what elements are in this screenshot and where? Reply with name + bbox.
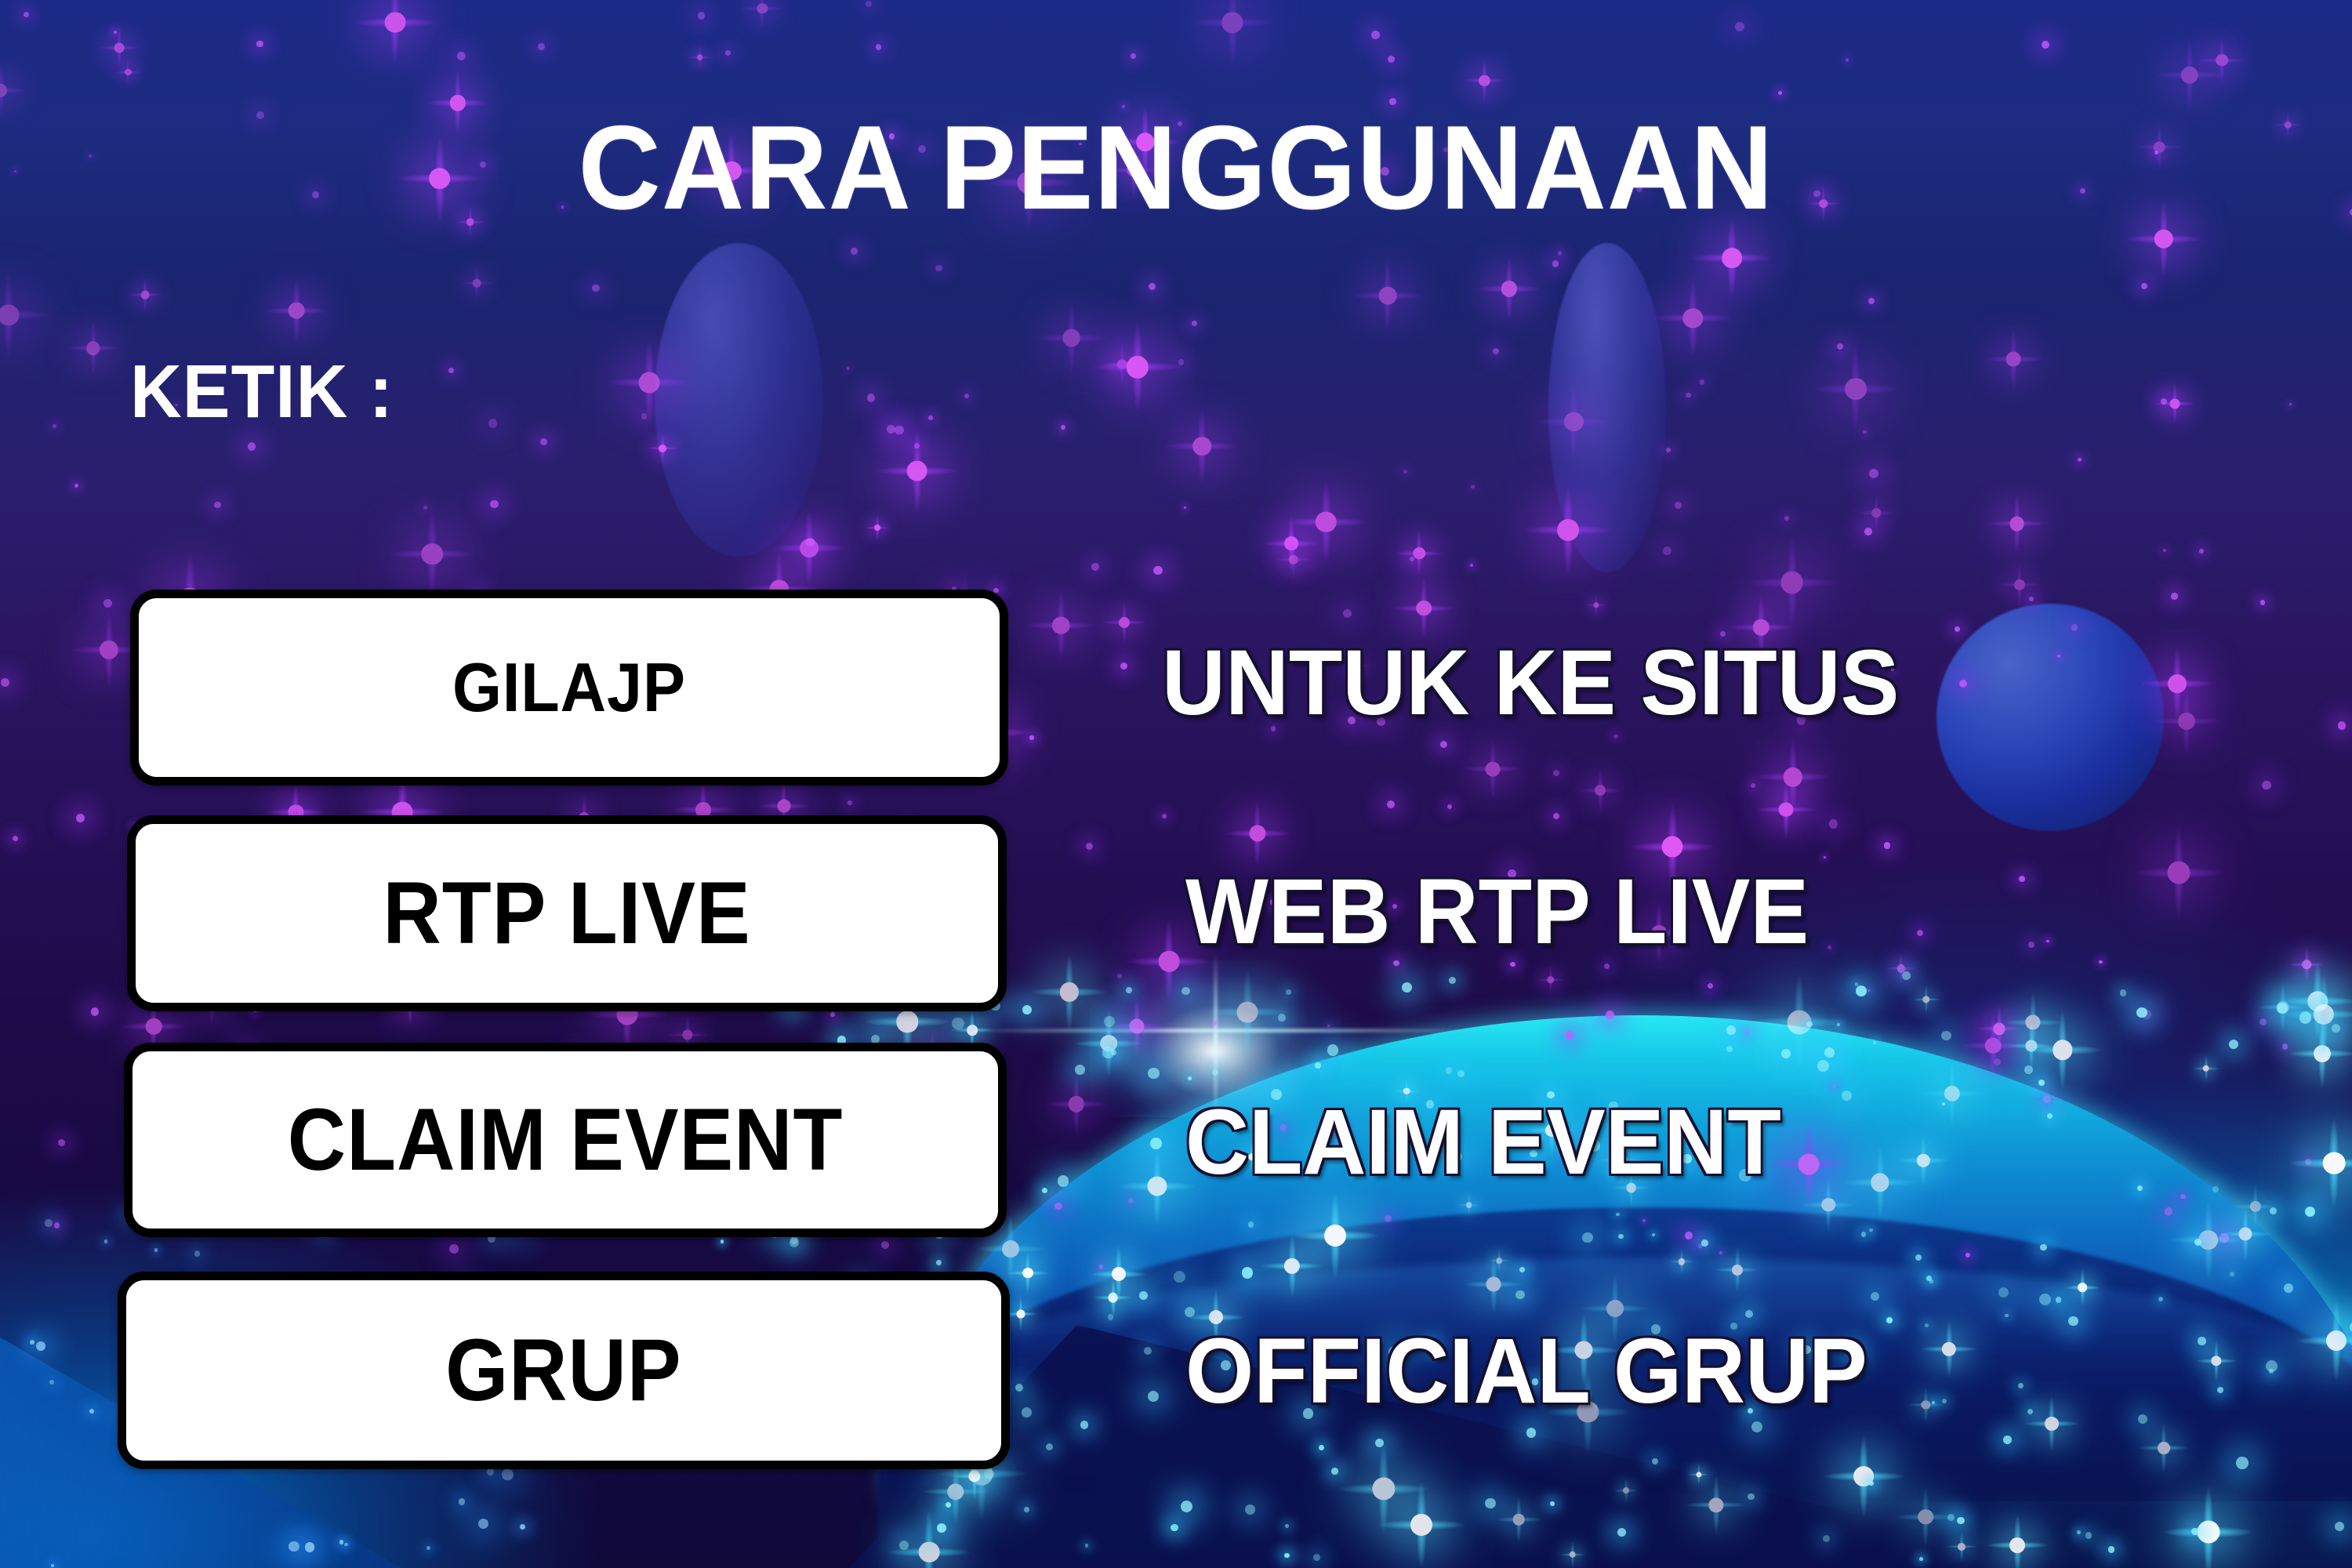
- command-button-gilajp[interactable]: GILAJP: [130, 590, 1008, 786]
- promo-banner: CARA PENGGUNAAN KETIK : GILAJP UNTUK KE …: [0, 0, 2352, 1568]
- command-button-label: CLAIM EVENT: [288, 1096, 844, 1184]
- command-button-label: RTP LIVE: [383, 869, 750, 957]
- command-button-label: GILAJP: [452, 653, 686, 722]
- command-description-rtp-live: WEB RTP LIVE: [1185, 866, 1809, 958]
- command-description-claim-event: CLAIM EVENT: [1185, 1096, 1781, 1189]
- command-button-claim-event[interactable]: CLAIM EVENT: [124, 1043, 1007, 1237]
- command-button-grup[interactable]: GRUP: [118, 1272, 1010, 1469]
- command-button-label: GRUP: [445, 1327, 681, 1414]
- command-list: GILAJP UNTUK KE SITUS RTP LIVE WEB RTP L…: [0, 0, 2352, 1568]
- command-description-grup: OFFICIAL GRUP: [1185, 1325, 1867, 1417]
- command-description-gilajp: UNTUK KE SITUS: [1162, 637, 1899, 729]
- command-button-rtp-live[interactable]: RTP LIVE: [127, 815, 1007, 1011]
